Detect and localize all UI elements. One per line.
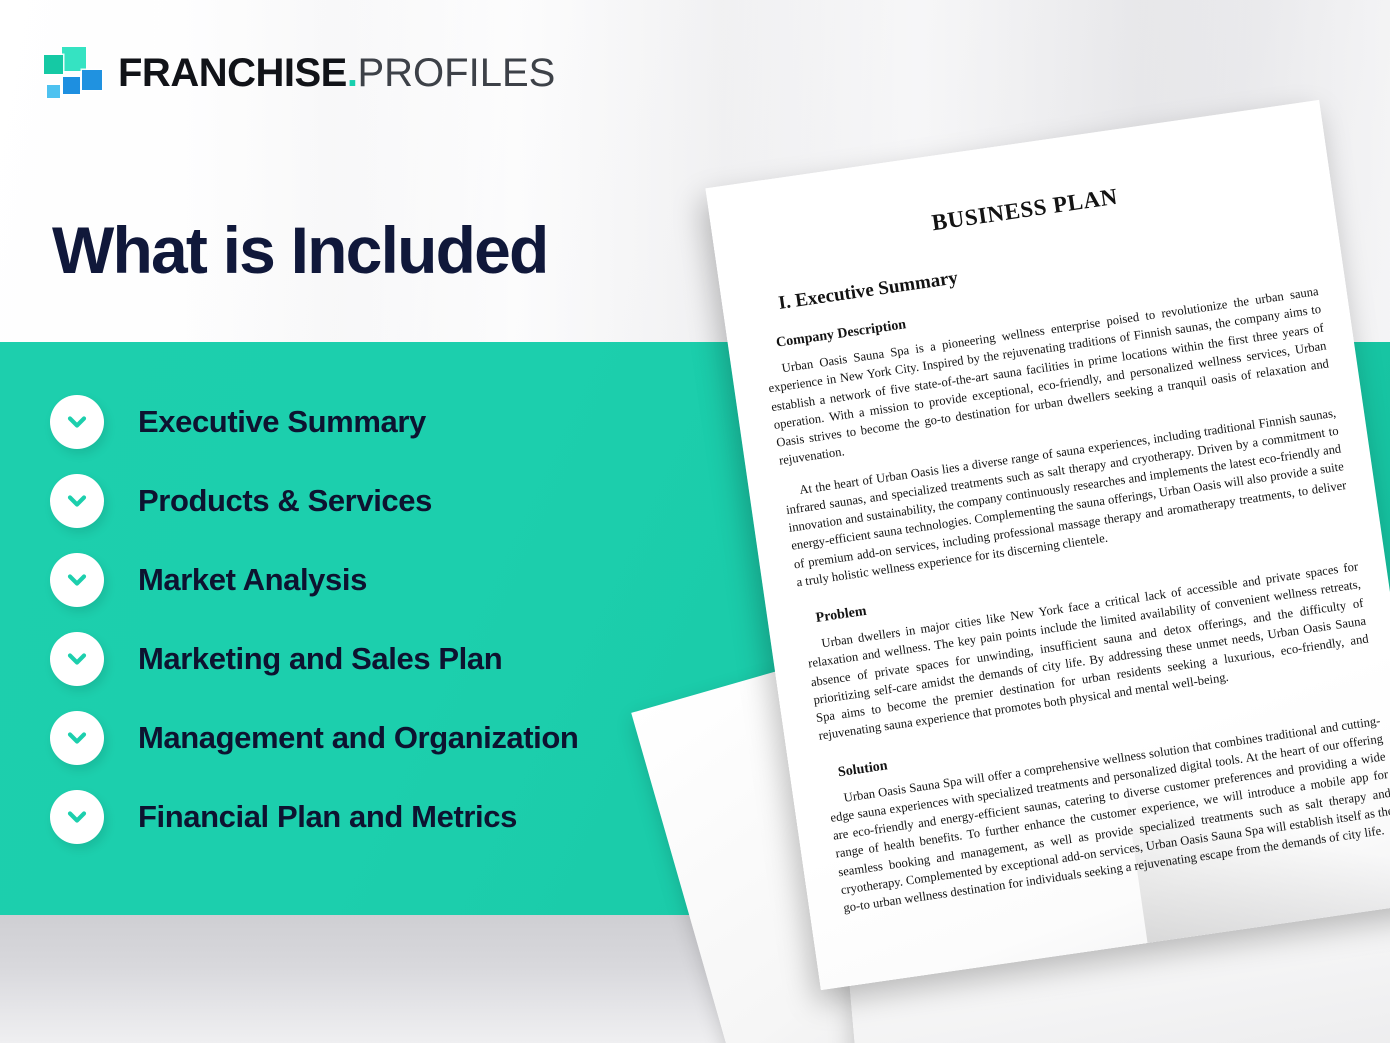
chevron-down-icon[interactable] [50, 474, 104, 528]
page-title: What is Included [52, 216, 548, 285]
slide-root: FRANCHISE.PROFILES What is Included Exec… [0, 0, 1390, 1043]
list-item-label: Products & Services [138, 485, 432, 516]
chevron-down-icon[interactable] [50, 553, 104, 607]
brand-name-light: PROFILES [357, 51, 555, 95]
chevron-down-icon[interactable] [50, 790, 104, 844]
logo-square-blue-large [82, 70, 102, 90]
list-item-label: Marketing and Sales Plan [138, 643, 502, 674]
document-preview-stack[interactable]: a de as the go-to urban wellness destina… [640, 120, 1390, 1043]
document-body: BUSINESS PLAN I. Executive Summary Compa… [747, 157, 1390, 930]
list-item-label: Market Analysis [138, 564, 367, 595]
logo-square-teal-large [62, 47, 86, 71]
chevron-down-icon[interactable] [50, 711, 104, 765]
five-squares-logo-icon [44, 47, 102, 99]
logo-square-blue-small [63, 77, 80, 94]
brand-logo[interactable]: FRANCHISE.PROFILES [44, 42, 555, 104]
brand-name-dot: . [347, 51, 358, 95]
list-item-label: Management and Organization [138, 722, 578, 753]
list-item-label: Financial Plan and Metrics [138, 801, 517, 832]
document-sheet-main[interactable]: BUSINESS PLAN I. Executive Summary Compa… [705, 100, 1390, 990]
logo-square-lightblue [47, 85, 60, 98]
chevron-down-icon[interactable] [50, 395, 104, 449]
brand-name-bold: FRANCHISE [118, 51, 347, 95]
list-item-label: Executive Summary [138, 406, 426, 437]
logo-square-teal-small [44, 55, 63, 74]
chevron-down-icon[interactable] [50, 632, 104, 686]
brand-wordmark: FRANCHISE.PROFILES [118, 53, 555, 93]
